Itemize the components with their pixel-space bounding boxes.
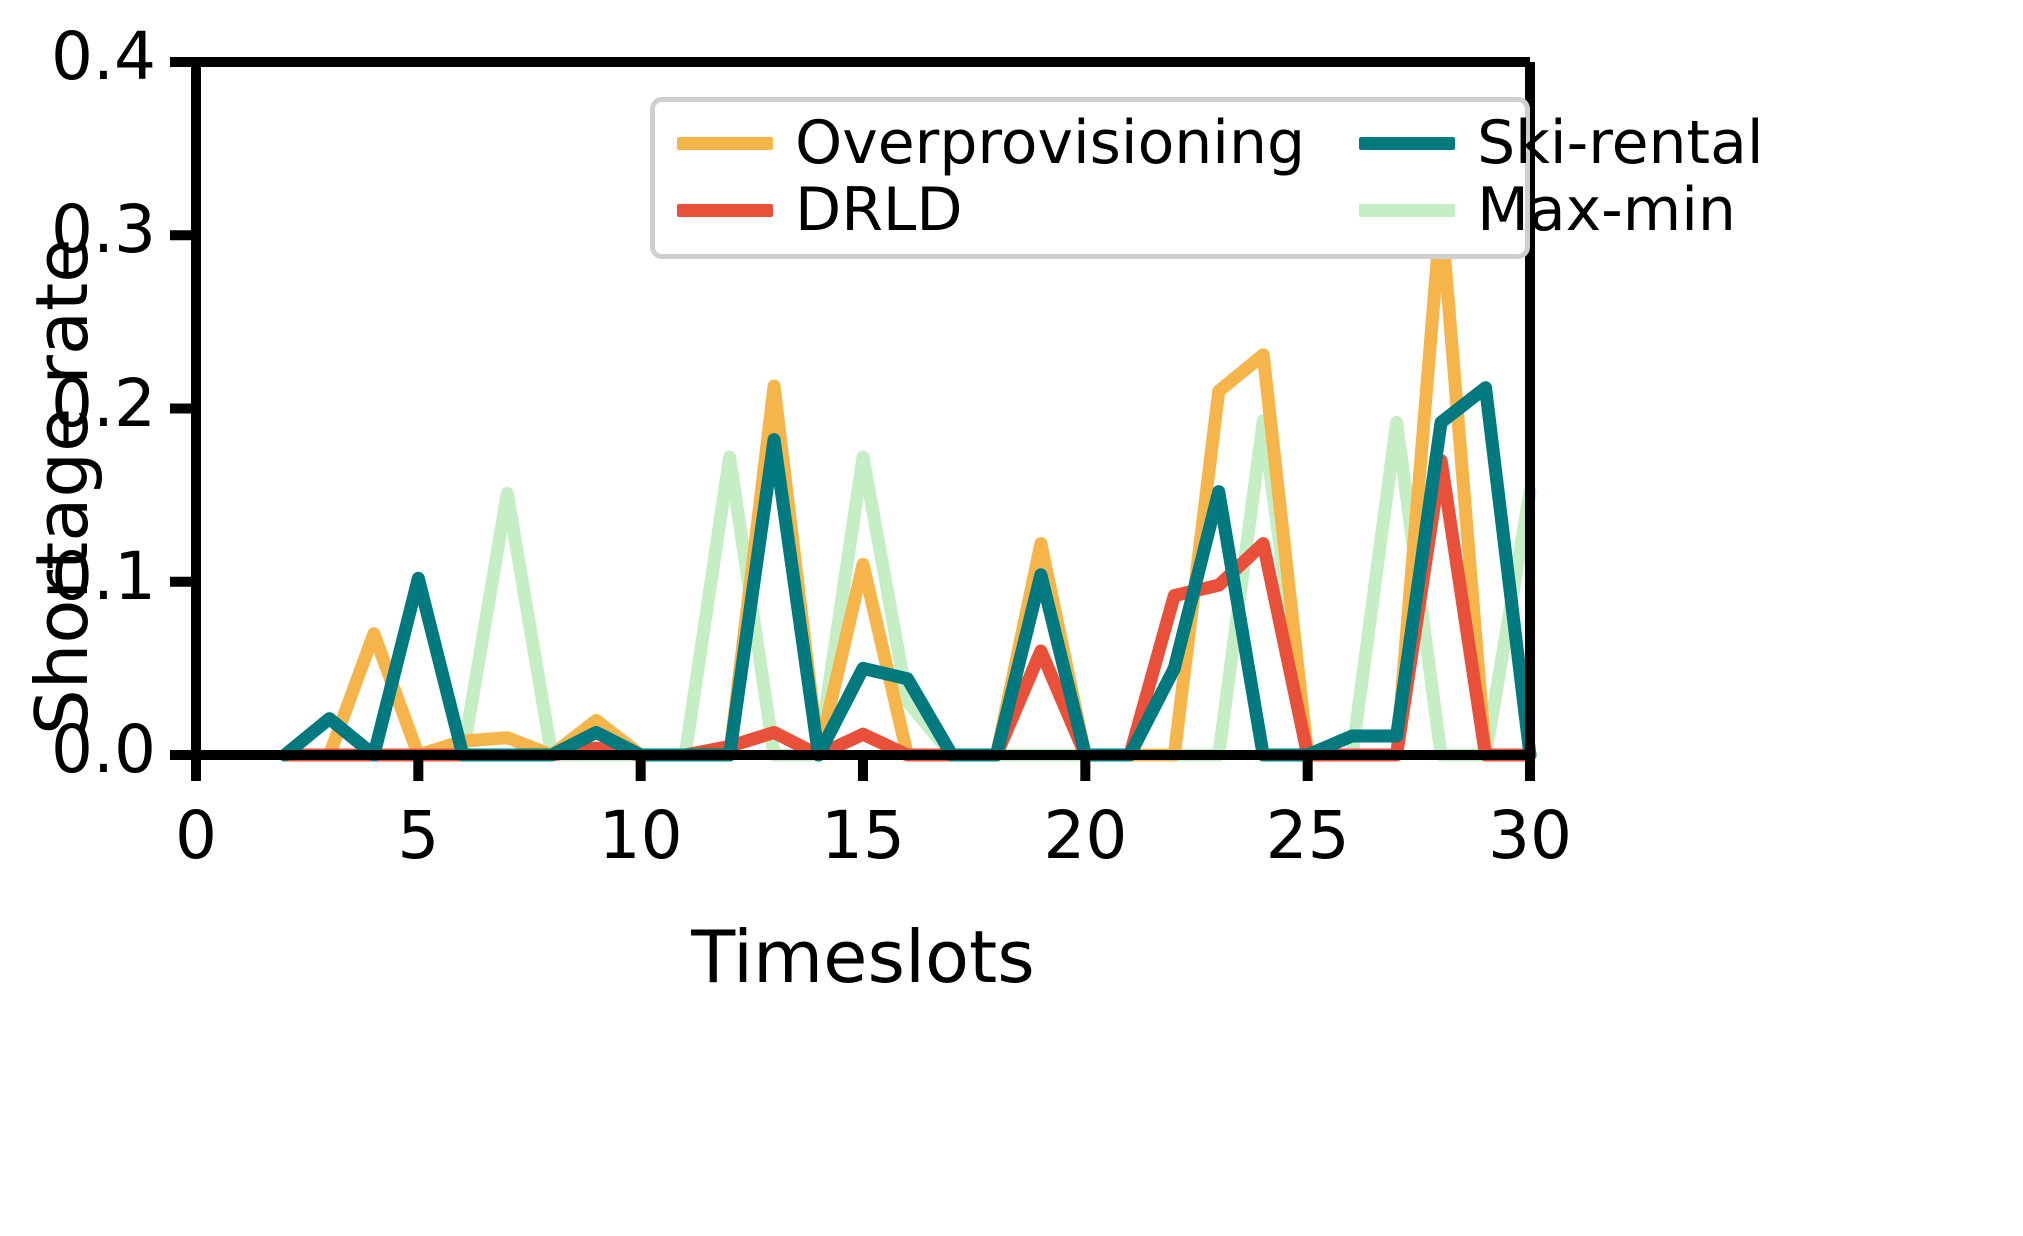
legend-entry-ski-rental: Ski-rental (1359, 112, 1763, 175)
y-tick-label: 0.0 (51, 711, 156, 788)
legend-swatch-overprovisioning (677, 137, 773, 150)
chart-figure: Shortage rate Timeslots 0.00.10.20.30.4 … (0, 0, 2023, 1236)
series-line-max-min (285, 421, 1530, 755)
x-tick-label: 0 (175, 797, 217, 874)
legend-swatch-ski-rental (1359, 137, 1455, 150)
legend-swatch-max-min (1359, 204, 1455, 217)
x-tick-label: 30 (1488, 797, 1572, 874)
legend-label: Overprovisioning (795, 112, 1305, 175)
x-tick-label: 20 (1043, 797, 1127, 874)
y-tick-label: 0.4 (51, 18, 156, 95)
legend-label: Ski-rental (1477, 112, 1763, 175)
x-tick-label: 25 (1266, 797, 1350, 874)
series-layer (285, 213, 1530, 755)
x-axis-title: Timeslots (196, 915, 1530, 999)
y-tick-label: 0.3 (51, 191, 156, 268)
legend-label: DRLD (795, 179, 963, 242)
y-tick-label: 0.1 (51, 538, 156, 615)
legend-label: Max-min (1477, 179, 1736, 242)
chart-legend: OverprovisioningSki-rentalDRLDMax-min (650, 97, 1530, 259)
y-tick-label: 0.2 (51, 365, 156, 442)
legend-entry-overprovisioning: Overprovisioning (677, 112, 1305, 175)
x-tick-label: 5 (397, 797, 439, 874)
x-tick-label: 10 (599, 797, 683, 874)
legend-swatch-drld (677, 204, 773, 217)
legend-entry-drld: DRLD (677, 179, 1305, 242)
legend-entry-max-min: Max-min (1359, 179, 1763, 242)
x-tick-label: 15 (821, 797, 905, 874)
y-axis-title: Shortage rate (20, 239, 104, 735)
